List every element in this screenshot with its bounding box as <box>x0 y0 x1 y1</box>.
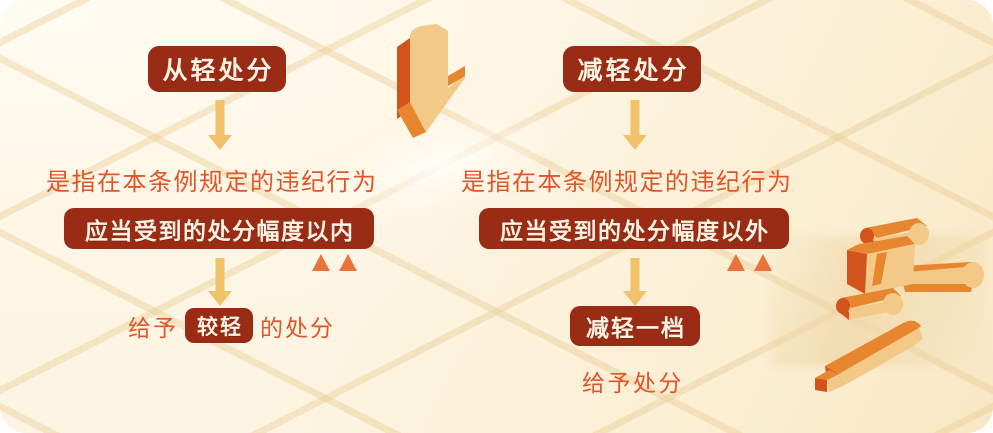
triangle-marker-icon <box>312 254 330 271</box>
down-arrow-icon-jianqing-2 <box>615 258 655 306</box>
triangle-marker-icon-jianqing <box>727 254 772 271</box>
down-arrow-icon-jianqing-1 <box>615 100 655 150</box>
badge-scope-congqing: 应当受到的处分幅度以内 <box>64 208 374 249</box>
badge-result-jianqing: 减轻一档 <box>570 306 700 346</box>
gavel-3d-icon <box>795 192 993 392</box>
badge-title-congqing: 从轻处分 <box>148 46 286 92</box>
down-arrow-3d-icon <box>370 14 482 140</box>
down-arrow-icon-congqing-1 <box>200 100 240 150</box>
result-caption-jianqing: 给予处分 <box>582 364 684 398</box>
triangle-marker-icon-congqing <box>312 254 357 271</box>
definition-text-congqing: 是指在本条例规定的违纪行为 <box>46 162 378 197</box>
triangle-marker-icon <box>754 254 772 271</box>
triangle-marker-icon <box>727 254 745 271</box>
down-arrow-icon-congqing-2 <box>200 258 240 306</box>
result-prefix-congqing: 给予 <box>128 309 178 343</box>
badge-scope-jianqing: 应当受到的处分幅度以外 <box>479 208 789 249</box>
triangle-marker-icon <box>339 254 357 271</box>
badge-result-highlight-congqing: 较轻 <box>185 308 253 343</box>
infographic-card: 从轻处分 是指在本条例规定的违纪行为 应当受到的处分幅度以内 给予 较轻 的处分… <box>0 0 993 433</box>
result-line-congqing: 给予 较轻 的处分 <box>128 308 335 343</box>
result-suffix-congqing: 的处分 <box>260 309 335 343</box>
definition-text-jianqing: 是指在本条例规定的违纪行为 <box>461 162 793 197</box>
badge-title-jianqing: 减轻处分 <box>563 46 701 92</box>
